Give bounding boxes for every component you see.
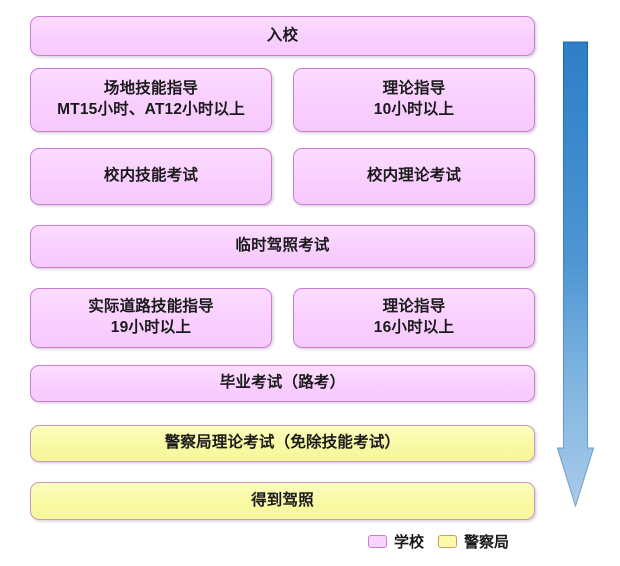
flowchart-canvas: 入校 场地技能指导 MT15小时、AT12小时以上 理论指导 10小时以上 校内…	[0, 0, 620, 566]
node-enter-school[interactable]: 入校	[30, 16, 535, 56]
node-temporary-license-exam[interactable]: 临时驾照考试	[30, 225, 535, 268]
node-in-school-skill-exam[interactable]: 校内技能考试	[30, 148, 272, 205]
node-line: 理论指导	[383, 297, 446, 318]
legend-item-school: 学校	[368, 531, 424, 552]
legend-item-police: 警察局	[438, 531, 509, 552]
progression-arrow-icon	[552, 36, 600, 514]
node-line: 19小时以上	[111, 318, 191, 339]
node-line: 校内技能考试	[104, 166, 198, 187]
node-police-theory-exam[interactable]: 警察局理论考试（免除技能考试）	[30, 425, 535, 462]
node-line: 10小时以上	[374, 100, 454, 121]
node-line: 临时驾照考试	[235, 236, 329, 257]
node-line: 理论指导	[383, 79, 446, 100]
node-line: 入校	[267, 26, 298, 47]
node-line: 实际道路技能指导	[88, 297, 214, 318]
node-road-skill-training[interactable]: 实际道路技能指导 19小时以上	[30, 288, 272, 348]
legend-label-school: 学校	[394, 531, 424, 552]
node-line: 毕业考试（路考）	[220, 373, 346, 394]
node-site-skill-training[interactable]: 场地技能指导 MT15小时、AT12小时以上	[30, 68, 272, 132]
node-line: 校内理论考试	[367, 166, 461, 187]
node-graduation-exam[interactable]: 毕业考试（路考）	[30, 365, 535, 402]
node-get-license[interactable]: 得到驾照	[30, 482, 535, 520]
node-line: 得到驾照	[251, 491, 314, 512]
legend-swatch-police-icon	[438, 535, 457, 548]
node-in-school-theory-exam[interactable]: 校内理论考试	[293, 148, 535, 205]
node-theory-training-1[interactable]: 理论指导 10小时以上	[293, 68, 535, 132]
node-line: 16小时以上	[374, 318, 454, 339]
legend: 学校 警察局	[368, 531, 509, 552]
node-theory-training-2[interactable]: 理论指导 16小时以上	[293, 288, 535, 348]
legend-swatch-school-icon	[368, 535, 387, 548]
node-line: 警察局理论考试（免除技能考试）	[165, 433, 401, 454]
node-line: 场地技能指导	[104, 79, 198, 100]
node-line: MT15小时、AT12小时以上	[57, 100, 245, 121]
legend-label-police: 警察局	[464, 531, 509, 552]
